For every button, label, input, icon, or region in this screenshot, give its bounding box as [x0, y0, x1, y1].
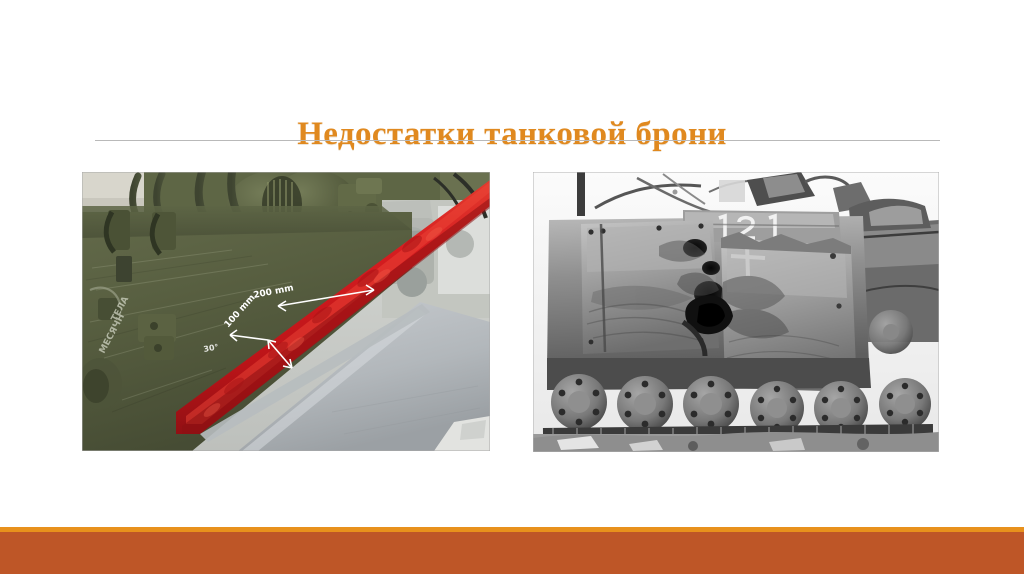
armor-photo-canvas: ТЕЛА МЕСЯЧН	[82, 172, 490, 451]
ground-rubble	[533, 432, 939, 452]
footer-band	[0, 532, 1024, 574]
penetration-hole	[702, 261, 720, 275]
destroyed-tank-photo	[533, 172, 939, 452]
armor-weld-thickness-photo: ТЕЛА МЕСЯЧН	[82, 172, 490, 451]
destroyed-tank-canvas	[533, 172, 939, 452]
title-divider	[95, 140, 940, 141]
page-title: Недостатки танковой брони	[0, 114, 1024, 154]
left-armor-plate	[581, 220, 724, 354]
slide: Недостатки танковой брони	[0, 0, 1024, 574]
